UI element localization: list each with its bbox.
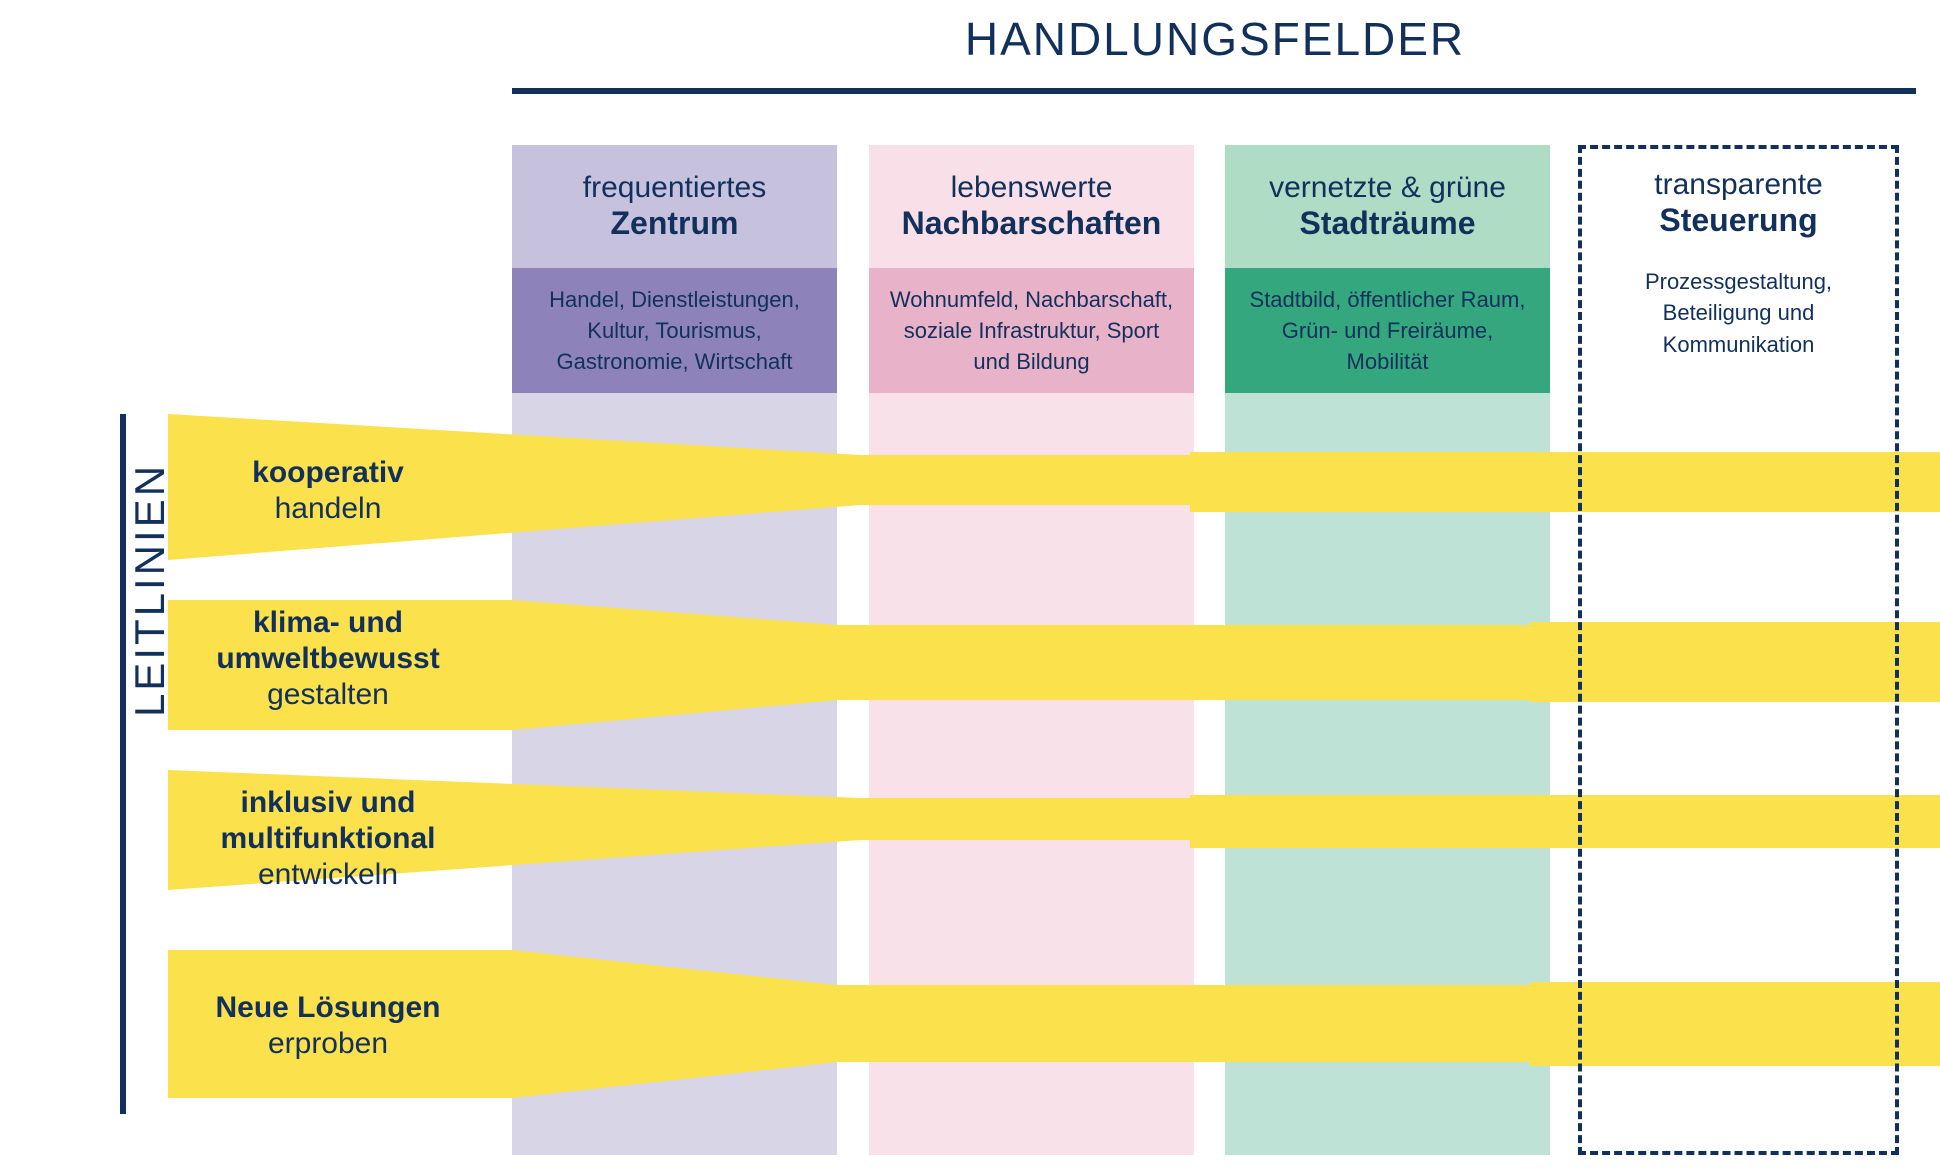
column-caption-bold: Nachbarschaften: [902, 205, 1162, 243]
row-label-normal: erproben: [168, 1026, 488, 1062]
row-label-normal: handeln: [168, 491, 488, 527]
column-caption-bold: Stadträume: [1299, 205, 1475, 243]
column-caption-thin: frequentiertes: [583, 170, 766, 205]
column-card-steuerung[interactable]: transparente Steuerung Prozessgestaltung…: [1578, 145, 1899, 1155]
row-label-inklusiv-multifunktional[interactable]: inklusiv und multifunktional entwickeln: [168, 785, 488, 893]
column-body-text: Stadtbild, öffentlicher Raum, Grün- und …: [1239, 284, 1536, 378]
row-label-bold: klima- und: [168, 605, 488, 641]
column-card-nachbarschaften[interactable]: lebenswerte Nachbarschaften Wohnumfeld, …: [869, 145, 1194, 393]
column-caption-thin: transparente: [1654, 167, 1822, 202]
row-label-bold: Neue Lösungen: [168, 990, 488, 1026]
axis-label-leitlinien: LEITLINIEN: [126, 463, 174, 717]
column-body-steuerung: Prozessgestaltung, Beteiligung und Kommu…: [1582, 266, 1895, 360]
row-label-normal: entwickeln: [168, 857, 488, 893]
page-title: HANDLUNGSFELDER: [510, 12, 1920, 66]
column-caption-thin: vernetzte & grüne: [1269, 170, 1506, 205]
row-label-neue-loesungen[interactable]: Neue Lösungen erproben: [168, 990, 488, 1062]
column-body-text: Prozessgestaltung, Beteiligung und Kommu…: [1645, 269, 1832, 356]
ribbon-neue-loesungen-right: [1530, 982, 1940, 1066]
column-caption-zentrum: frequentiertes Zentrum: [512, 145, 837, 268]
column-caption-nachbarschaften: lebenswerte Nachbarschaften: [869, 145, 1194, 268]
column-caption-steuerung: transparente Steuerung: [1582, 167, 1895, 240]
column-body-text: Handel, Dienstleistungen, Kultur, Touris…: [526, 284, 823, 378]
row-label-klima-umwelt[interactable]: klima- und umweltbewusst gestalten: [168, 605, 488, 713]
ribbon-klima-right: [1530, 622, 1940, 702]
column-card-stadtraeume[interactable]: vernetzte & grüne Stadträume Stadtbild, …: [1225, 145, 1550, 393]
row-label-bold-2: umweltbewusst: [168, 641, 488, 677]
leitlinien-axis-rule: [120, 414, 126, 1114]
row-label-bold-2: multifunktional: [168, 821, 488, 857]
title-underline: [512, 88, 1916, 94]
row-label-normal: gestalten: [168, 677, 488, 713]
column-caption-thin: lebenswerte: [951, 170, 1113, 205]
column-caption-bold: Steuerung: [1659, 202, 1817, 240]
column-body-text: Wohnumfeld, Nachbarschaft, soziale Infra…: [883, 284, 1180, 378]
row-label-bold: inklusiv und: [168, 785, 488, 821]
row-label-kooperativ[interactable]: kooperativ handeln: [168, 455, 488, 527]
column-card-zentrum[interactable]: frequentiertes Zentrum Handel, Dienstlei…: [512, 145, 837, 393]
column-caption-bold: Zentrum: [611, 205, 739, 243]
diagram-canvas: HANDLUNGSFELDER LEITLINIEN .yl{fill:#fbe…: [0, 0, 1940, 1168]
column-body-zentrum: Handel, Dienstleistungen, Kultur, Touris…: [512, 268, 837, 393]
row-label-bold: kooperativ: [168, 455, 488, 491]
column-body-stadtraeume: Stadtbild, öffentlicher Raum, Grün- und …: [1225, 268, 1550, 393]
column-caption-stadtraeume: vernetzte & grüne Stadträume: [1225, 145, 1550, 268]
column-body-nachbarschaften: Wohnumfeld, Nachbarschaft, soziale Infra…: [869, 268, 1194, 393]
